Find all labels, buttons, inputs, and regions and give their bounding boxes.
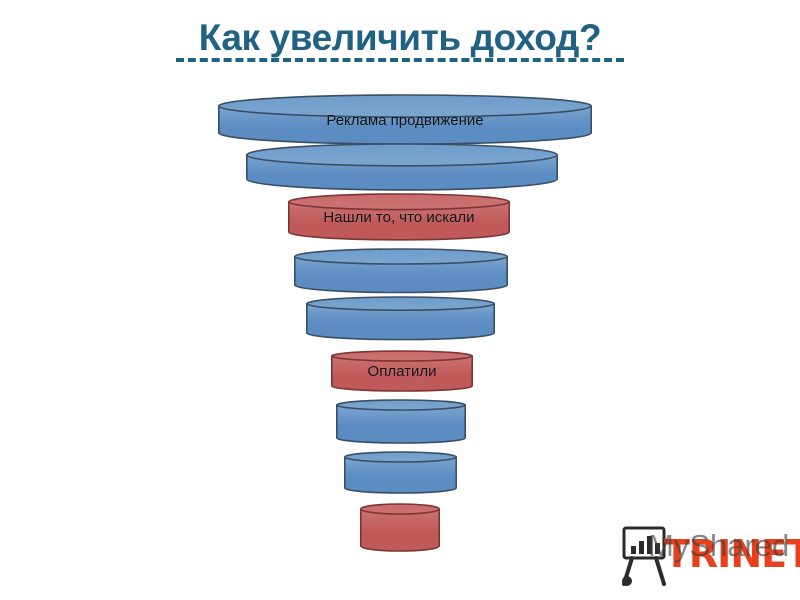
funnel-segment-shape-1 [218, 95, 592, 135]
funnel-segment-6: Оплатили [331, 351, 473, 386]
funnel-segment-shape-7 [336, 400, 466, 440]
funnel-segment-1: Реклама продвижение [218, 95, 592, 133]
funnel-segment-shape-4 [294, 249, 508, 287]
funnel-segment-2 [246, 144, 558, 179]
funnel-segment-4 [294, 249, 508, 285]
funnel-segment-shape-3 [288, 194, 510, 234]
funnel-segment-3: Нашли то, что искали [288, 194, 510, 232]
funnel-segment-shape-5 [306, 297, 495, 335]
myshared-watermark: MyShared [648, 528, 789, 564]
funnel-segment-shape-2 [246, 144, 558, 181]
funnel-segment-shape-8 [344, 452, 457, 490]
funnel-segment-shape-9 [360, 504, 440, 548]
funnel-segment-5 [306, 297, 495, 333]
funnel-segment-8 [344, 452, 457, 488]
funnel-segment-shape-6 [331, 351, 473, 388]
funnel-segment-7 [336, 400, 466, 438]
funnel-segment-9 [360, 504, 440, 546]
